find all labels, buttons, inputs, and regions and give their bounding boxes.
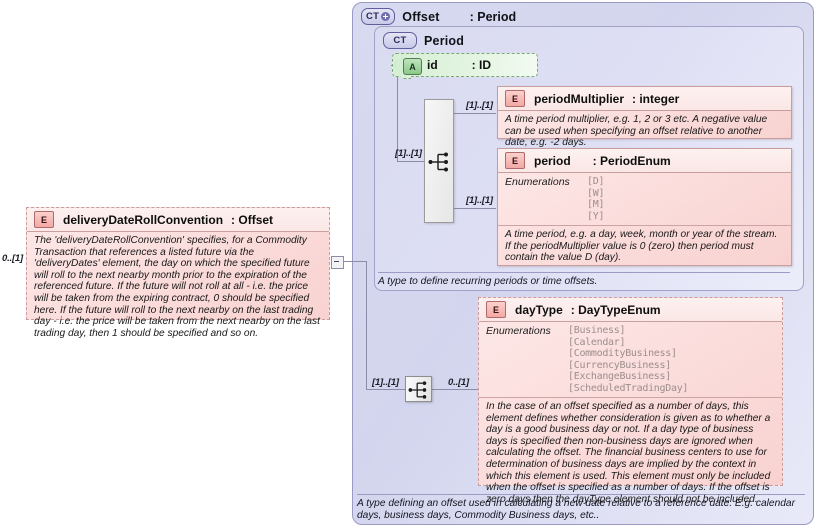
connector-to-delivery-date	[340, 261, 367, 262]
element-header: E deliveryDateRollConvention : Offset	[27, 208, 329, 232]
connector-sequence-to-periodmultiplier	[454, 113, 496, 114]
element-icon: E	[486, 301, 506, 318]
cardinality-period: [1]..[1]	[466, 195, 493, 206]
connector-outer-vertical	[366, 261, 367, 389]
connector-inner-to-sequence	[397, 161, 424, 162]
cardinality-day-type: 0..[1]	[448, 377, 469, 388]
cardinality-period-multiplier: [1]..[1]	[466, 100, 493, 111]
connector-outer-to-sequence	[366, 389, 405, 390]
outer-frame-type: : Period	[470, 10, 517, 24]
element-icon: E	[34, 211, 54, 228]
element-type: : DayTypeEnum	[571, 303, 661, 317]
sequence-compositor-inner[interactable]	[424, 99, 454, 223]
inner-frame-header: CT Period	[383, 32, 464, 49]
inner-frame-title: Period	[424, 34, 464, 48]
element-day-type[interactable]: E dayType : DayTypeEnum Enumerations [Bu…	[478, 297, 783, 486]
cardinality-inner-sequence: [1]..[1]	[395, 148, 422, 159]
schema-diagram-canvas: CT Offset : Period CT Period A type to d…	[0, 0, 816, 527]
enum-value: [M]	[587, 199, 604, 211]
element-delivery-date-roll-convention[interactable]: E deliveryDateRollConvention : Offset Th…	[26, 207, 330, 320]
element-documentation: A time period multiplier, e.g. 1, 2 or 3…	[498, 111, 791, 153]
element-period[interactable]: E period : PeriodEnum Enumerations [D] […	[497, 148, 792, 266]
sequence-icon	[428, 151, 452, 173]
cardinality-delivery-date-roll-convention: 0..[1]	[2, 253, 23, 264]
element-name: dayType	[515, 303, 563, 317]
enum-value: [Business]	[568, 325, 688, 337]
enumerations-row: Enumerations [Business] [Calendar] [Comm…	[479, 322, 782, 398]
enumerations-label: Enumerations	[486, 325, 568, 394]
element-name: period	[534, 154, 571, 168]
element-name: periodMultiplier	[534, 92, 624, 106]
element-header: E periodMultiplier : integer	[498, 87, 791, 111]
attribute-name: id	[427, 58, 438, 72]
enum-value: [D]	[587, 176, 604, 188]
element-type: : PeriodEnum	[593, 154, 671, 168]
badge-ct-label-inner: CT	[393, 35, 406, 46]
inner-frame-documentation: A type to define recurring periods or ti…	[378, 272, 790, 288]
enum-value: [ExchangeBusiness]	[568, 371, 688, 383]
connector-sequence-to-period	[454, 208, 496, 209]
element-period-multiplier[interactable]: E periodMultiplier : integer A time peri…	[497, 86, 792, 139]
element-header: E dayType : DayTypeEnum	[479, 298, 782, 322]
element-documentation: In the case of an offset specified as a …	[479, 398, 782, 509]
sequence-compositor-outer[interactable]	[405, 376, 432, 402]
attribute-id[interactable]: A id : ID	[392, 53, 538, 77]
connector-sequence-to-daytype	[432, 389, 480, 390]
enum-value: [Calendar]	[568, 337, 688, 349]
enumerations-values: [Business] [Calendar] [CommodityBusiness…	[568, 325, 688, 394]
element-icon: E	[505, 152, 525, 169]
enum-value: [ScheduledTradingDay]	[568, 383, 688, 395]
element-type: : integer	[632, 92, 679, 106]
badge-ct-label: CT	[366, 11, 379, 22]
element-documentation: The 'deliveryDateRollConvention' specifi…	[27, 232, 329, 343]
enum-value: [Y]	[587, 211, 604, 223]
plus-icon[interactable]	[381, 12, 390, 21]
enum-value: [CommodityBusiness]	[568, 348, 688, 360]
complex-type-plus-icon[interactable]: CT	[361, 8, 395, 25]
enumerations-values: [D] [W] [M] [Y]	[587, 176, 604, 222]
element-name: deliveryDateRollConvention	[63, 213, 223, 227]
element-type: : Offset	[231, 213, 273, 227]
element-documentation: A time period, e.g. a day, week, month o…	[498, 226, 791, 268]
sequence-icon	[408, 380, 430, 400]
element-header: E period : PeriodEnum	[498, 149, 791, 173]
outer-frame-title: Offset	[402, 10, 439, 24]
outer-frame-header: CT Offset : Period	[361, 8, 516, 25]
enumerations-row: Enumerations [D] [W] [M] [Y]	[498, 173, 791, 226]
enum-value: [CurrencyBusiness]	[568, 360, 688, 372]
attribute-type: : ID	[472, 58, 491, 72]
enum-value: [W]	[587, 188, 604, 200]
complex-type-icon[interactable]: CT	[383, 32, 417, 49]
connector-stub	[397, 77, 398, 78]
cardinality-outer-sequence: [1]..[1]	[372, 377, 399, 388]
enumerations-label: Enumerations	[505, 176, 587, 222]
collapse-toggle-delivery-date-roll-convention[interactable]	[331, 256, 344, 269]
attribute-icon: A	[403, 58, 422, 75]
element-icon: E	[505, 90, 525, 107]
